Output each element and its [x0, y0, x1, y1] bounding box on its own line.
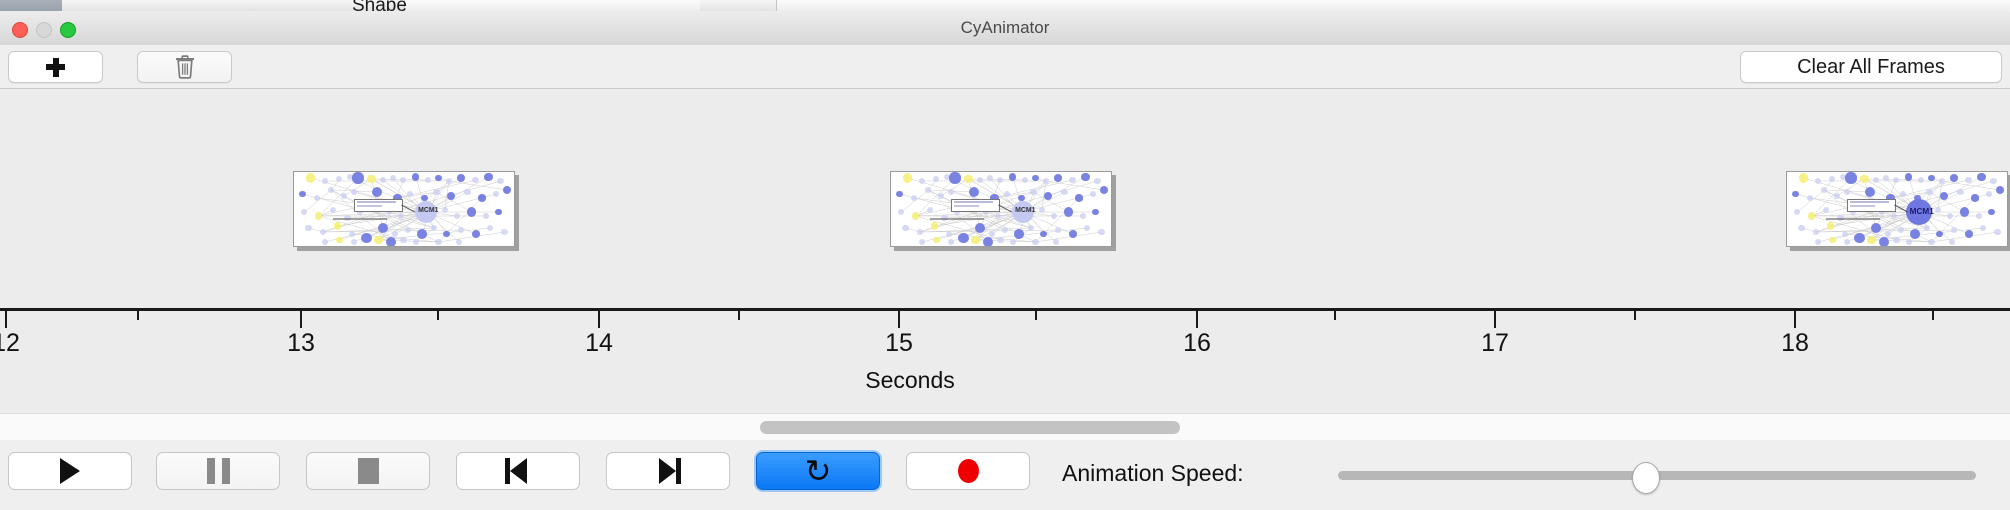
timeline-panel[interactable]: MCM1MCM1MCM1 12131415161718 Seconds: [0, 89, 2010, 413]
traffic-light-group: [12, 22, 76, 38]
timeline-tick-label: 13: [287, 329, 315, 358]
skip-start-button[interactable]: [456, 452, 580, 490]
bg-tab: [62, 0, 145, 11]
pause-button[interactable]: [156, 452, 280, 490]
minimize-button[interactable]: [36, 22, 52, 38]
network-caption-line: [1826, 218, 1880, 220]
timeline-tick: [1794, 311, 1796, 328]
timeline-tick-label: 17: [1481, 329, 1509, 358]
timeline-tick: [1196, 311, 1198, 328]
zoom-button[interactable]: [60, 22, 76, 38]
timeline-tick: [1634, 311, 1636, 320]
record-button[interactable]: [906, 452, 1030, 490]
timeline-tick-label: 12: [0, 329, 20, 358]
animation-speed-slider-thumb[interactable]: [1632, 462, 1660, 494]
frame-thumbnail[interactable]: MCM1: [293, 171, 515, 247]
add-frame-button[interactable]: [8, 51, 103, 83]
timeline-tick: [1334, 311, 1336, 320]
animation-speed-label: Animation Speed:: [1062, 460, 1244, 487]
axis-title: Seconds: [0, 367, 2010, 394]
skip-end-button[interactable]: [606, 452, 730, 490]
timeline-tick: [5, 311, 7, 328]
annotation-leader-line: [1787, 172, 2008, 247]
window-titlebar: CyAnimator: [0, 11, 2010, 46]
pause-icon: [207, 458, 230, 484]
close-button[interactable]: [12, 22, 28, 38]
annotation-leader-line: [891, 172, 1112, 247]
skip-end-icon: [655, 458, 681, 484]
frame-toolbar: Clear All Frames: [0, 45, 2010, 89]
clear-all-frames-label: Clear All Frames: [1797, 56, 1945, 79]
loop-button[interactable]: ↻: [756, 452, 880, 490]
bg-tab: [238, 0, 305, 11]
timeline-tick-label: 15: [885, 329, 913, 358]
timeline-tick: [598, 311, 600, 328]
network-caption-line: [930, 218, 984, 220]
record-icon: [958, 459, 979, 483]
window-title: CyAnimator: [0, 11, 2010, 45]
timeline-scrollbar-track[interactable]: [0, 413, 2010, 441]
timeline-scrollbar-thumb[interactable]: [760, 421, 1180, 434]
stop-icon: [358, 458, 379, 484]
timeline-tick: [738, 311, 740, 320]
timeline-tick: [437, 311, 439, 320]
delete-frame-button[interactable]: [137, 51, 232, 83]
network-caption-line: [333, 218, 387, 220]
skip-start-icon: [505, 458, 531, 484]
play-icon: [60, 458, 80, 484]
frame-network-preview: MCM1: [891, 172, 1111, 246]
timeline-tick: [137, 311, 139, 320]
bg-tab: [144, 0, 189, 11]
timeline-tick: [898, 311, 900, 328]
timeline-tick-label: 14: [585, 329, 613, 358]
bg-tab: [196, 0, 239, 11]
bg-tab: [0, 0, 63, 11]
frame-thumbnail[interactable]: MCM1: [1786, 171, 2008, 247]
loop-icon: ↻: [805, 457, 832, 485]
timeline-tick: [1932, 311, 1934, 320]
play-button[interactable]: [8, 452, 132, 490]
bg-tab: [708, 0, 777, 11]
timeline-tick: [1494, 311, 1496, 328]
plus-icon: [46, 58, 65, 77]
timeline-tick: [300, 311, 302, 328]
cyanimator-window: Shape CyAnimator Clear All Frames: [0, 0, 2010, 510]
timeline-tick: [1035, 311, 1037, 320]
trash-icon: [174, 54, 196, 80]
timeline-tick-label: 16: [1183, 329, 1211, 358]
timeline-tick-label: 18: [1781, 329, 1809, 358]
stop-button[interactable]: [306, 452, 430, 490]
clear-all-frames-button[interactable]: Clear All Frames: [1740, 51, 2002, 83]
frame-thumbnail[interactable]: MCM1: [890, 171, 1112, 247]
playback-toolbar: ↻ Animation Speed:: [0, 440, 2010, 510]
annotation-leader-line: [294, 172, 515, 247]
frame-network-preview: MCM1: [1787, 172, 2007, 246]
frame-network-preview: MCM1: [294, 172, 514, 246]
